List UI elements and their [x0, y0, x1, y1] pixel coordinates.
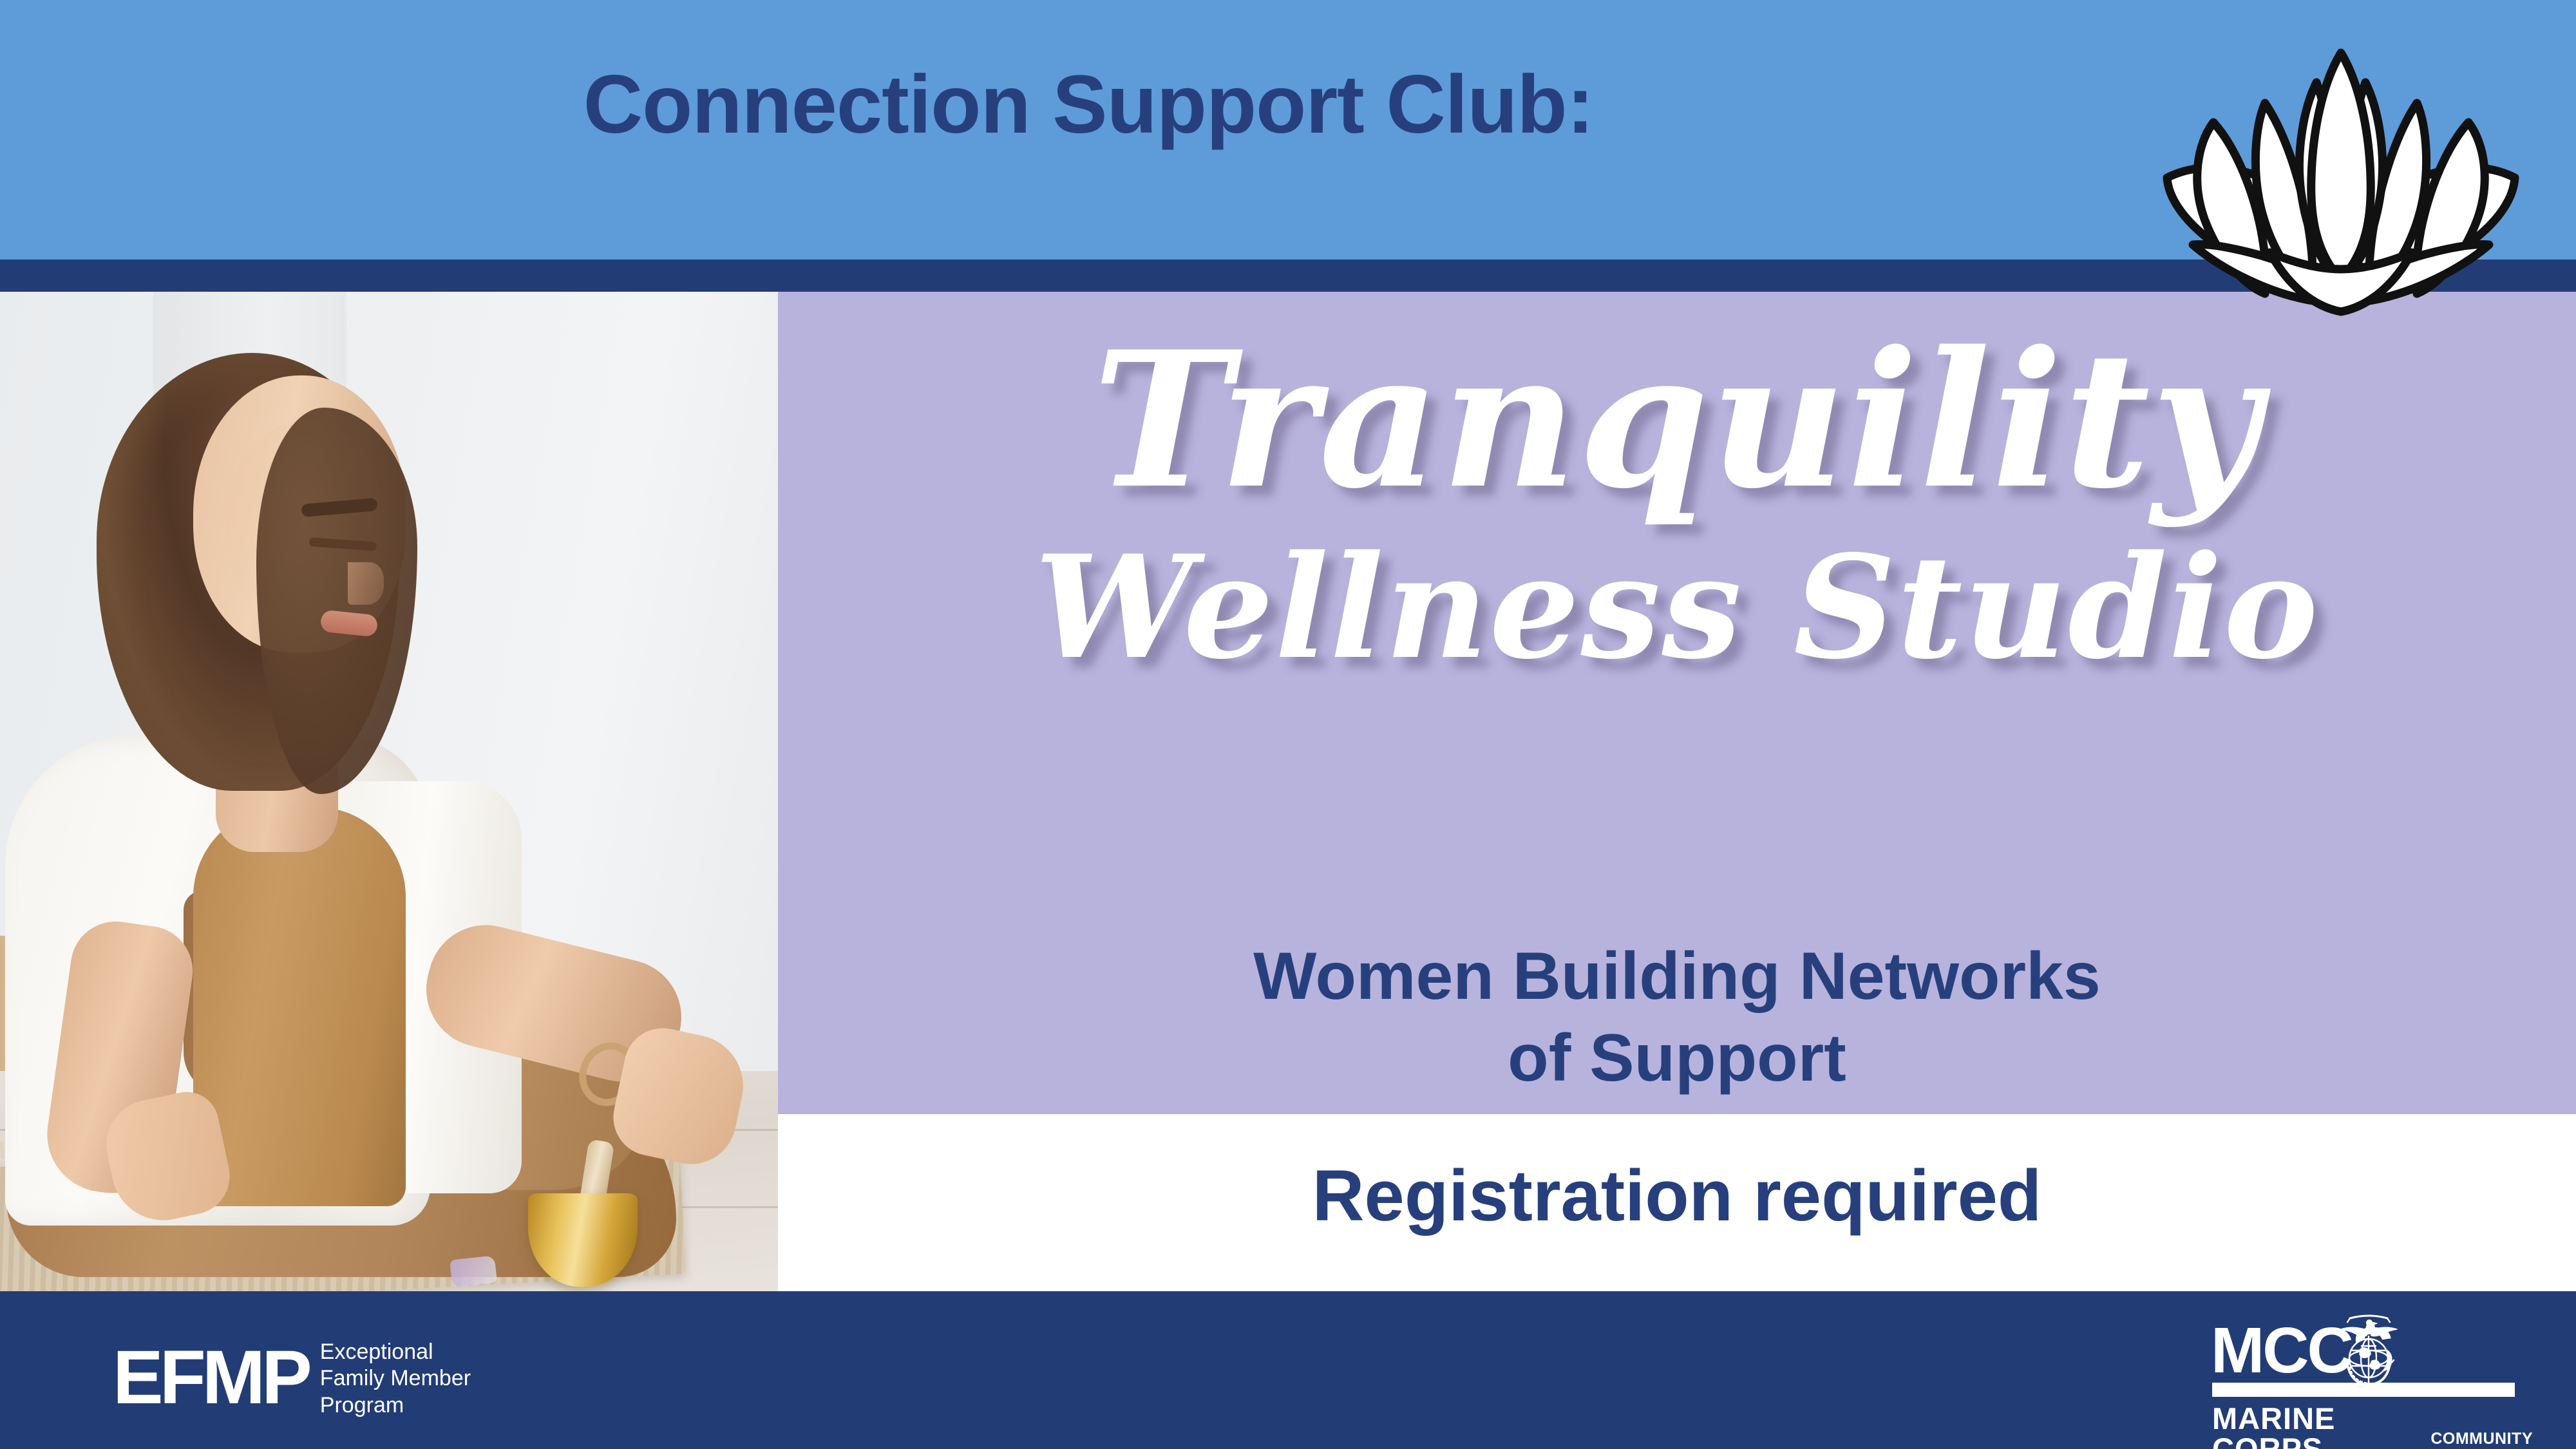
- photo-nose: [348, 562, 384, 605]
- meditation-photo: [0, 292, 778, 1291]
- tagline-line-2: of Support: [778, 1018, 2576, 1099]
- efmp-wordmark: EFMP: [113, 1340, 308, 1416]
- registration-band: Registration required: [778, 1114, 2576, 1291]
- efmp-subtitle-line-3: Program: [320, 1392, 471, 1419]
- footer-bar: EFMP Exceptional Family Member Program M…: [0, 1291, 2576, 1449]
- mccs-logo-icon: MCCS: [2211, 1318, 2533, 1428]
- tagline-line-1: Women Building Networks: [778, 936, 2576, 1018]
- mccs-divider-bar: [2212, 1383, 2515, 1397]
- mccs-community-line: COMMUNITY: [2430, 1430, 2533, 1447]
- main-content-panel: Tranquility Wellness Studio Women Buildi…: [778, 292, 2576, 1114]
- tagline: Women Building Networks of Support: [778, 936, 2576, 1099]
- studio-name-line-1: Tranquility: [778, 311, 2576, 530]
- efmp-logo-icon: EFMP Exceptional Family Member Program: [113, 1336, 471, 1419]
- mccs-marine-corps-label: MARINE CORPS: [2212, 1403, 2418, 1449]
- registration-notice: Registration required: [778, 1154, 2576, 1237]
- photo-tan-top: [193, 807, 406, 1206]
- photo-crystal: [450, 1255, 497, 1287]
- event-flyer: Connection Support Club:: [0, 0, 2576, 1449]
- lotus-flower-icon: [2154, 40, 2528, 317]
- studio-name-line-2: Wellness Studio: [778, 524, 2576, 690]
- efmp-subtitle: Exceptional Family Member Program: [320, 1336, 471, 1419]
- efmp-subtitle-line-1: Exceptional: [320, 1339, 471, 1365]
- efmp-subtitle-line-2: Family Member: [320, 1365, 471, 1392]
- eagle-globe-anchor-icon: [2324, 1311, 2413, 1393]
- mccs-subtitle: MARINE CORPS COMMUNITY SERVICES: [2212, 1403, 2533, 1449]
- mccs-community-services-label: COMMUNITY SERVICES: [2430, 1430, 2533, 1449]
- mccs-wordmark-row: MCCS: [2211, 1318, 2533, 1386]
- page-title: Connection Support Club:: [0, 62, 2177, 148]
